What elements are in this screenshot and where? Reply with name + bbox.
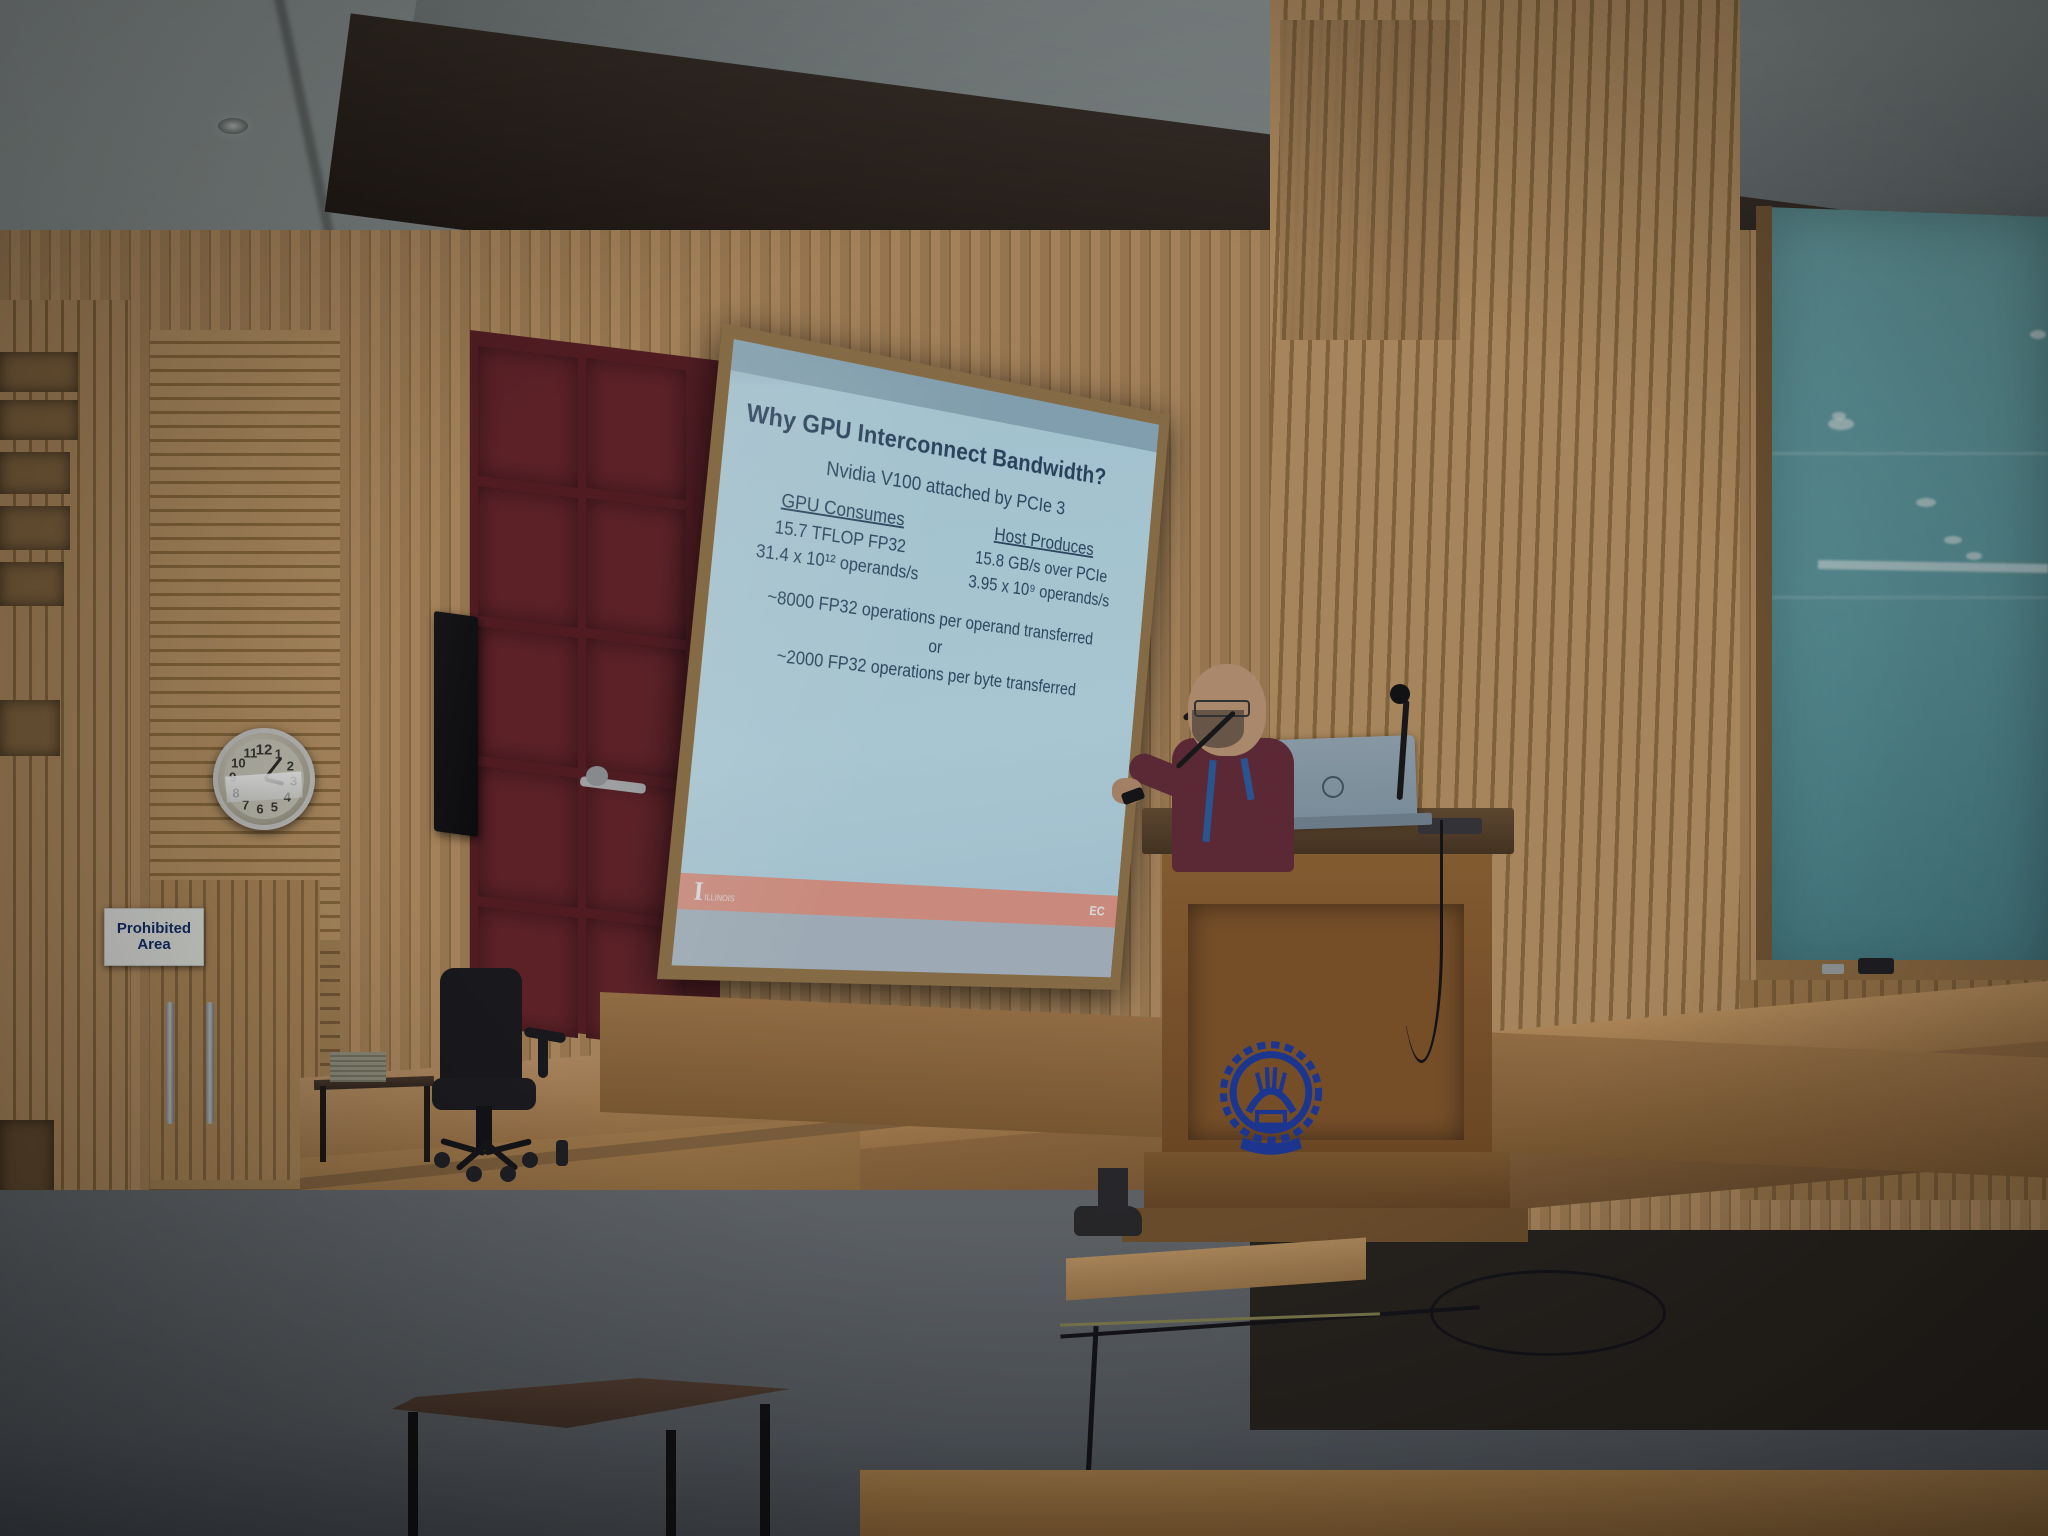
wall-speaker [434,611,478,837]
wall-slats-vertical [150,330,340,940]
slide-footer-right-text: EC [1089,903,1106,919]
mic-capsule-icon [1390,684,1410,704]
clock-number: 6 [256,802,263,817]
lectern-plinth [1122,1208,1528,1242]
block-i-logo-text: I [692,877,703,906]
red-panel-tile [586,498,686,640]
red-panel-tile [478,626,578,768]
light-reflection [1916,498,1936,507]
foreground-table-leg [760,1404,770,1536]
shelf-box [0,700,60,756]
foreground-table-leg [666,1430,676,1536]
wall-slats-right-upper [1280,20,1460,340]
window-object [1858,958,1894,974]
dell-logo-icon [1322,776,1344,798]
lecture-hall-photo: Prohibited Area 12 1 2 3 4 5 6 7 8 9 10 … [0,0,2048,1536]
chair-caster [522,1152,538,1168]
chair-caster [466,1166,482,1182]
door-handle[interactable] [166,1002,174,1124]
red-panel-tile [478,486,578,628]
shelf-box [0,1120,54,1200]
illinois-wordmark: ILLINOIS [704,893,735,903]
red-panel-tile [478,766,578,908]
wall-clock: 12 1 2 3 4 5 6 7 8 9 10 11 [213,728,315,830]
window-object [1822,964,1844,974]
camera-icon [586,766,608,786]
clock-number: 5 [271,800,278,815]
projected-slide: Why GPU Interconnect Bandwidth? Nvidia V… [672,339,1159,977]
light-reflection [1966,552,1982,560]
office-chair-armrest [538,1034,548,1078]
stacked-papers [330,1052,386,1082]
shelf-box [0,400,78,440]
window-frame [1756,206,1772,992]
slide-content: Why GPU Interconnect Bandwidth? Nvidia V… [681,370,1157,896]
light-reflection [1828,418,1854,430]
ceiling-downlight-icon [218,118,248,134]
clock-glass-glare [225,772,303,803]
sign-line-2: Area [137,937,170,953]
clock-number: 12 [256,742,273,759]
shelf-box [0,562,64,606]
slide-column-host: Host Produces 15.8 GB/s over PCIe 3.95 x… [967,518,1114,615]
chair-caster [556,1140,568,1166]
light-reflection [2030,330,2046,339]
illinois-logo: IILLINOIS [692,877,736,909]
foreground-bench [860,1470,2048,1536]
table-leg [320,1086,326,1162]
red-panel-tile [478,346,578,488]
light-reflection [1944,536,1962,544]
chair-caster [500,1166,516,1182]
clock-face: 12 1 2 3 4 5 6 7 8 9 10 11 [224,739,304,819]
sign-line-1: Prohibited [117,921,191,937]
floor-cable-loop [1430,1270,1666,1356]
red-panel-tile [586,358,686,500]
foreground-table-leg [408,1412,418,1536]
iit-bombay-emblem-icon [1196,1028,1346,1168]
glass-seam [1772,596,2048,599]
clock-number: 11 [244,745,258,760]
screen-frame: Why GPU Interconnect Bandwidth? Nvidia V… [657,323,1170,990]
power-cable [1400,820,1443,1063]
glasses-icon [1194,700,1250,717]
prohibited-area-sign: Prohibited Area [104,908,204,966]
slide-column-gpu: GPU Consumes 15.7 TFLOP FP32 31.4 x 10¹²… [755,484,925,589]
shelf-box [0,506,70,550]
shelf-box [0,352,78,392]
table-leg [424,1086,430,1162]
office-chair-back [440,968,522,1090]
glass-seam [1772,452,2048,455]
door-handle[interactable] [206,1002,214,1124]
presenter-leg [1098,1168,1128,1214]
chair-caster [434,1152,450,1168]
red-panel-tile [586,638,686,780]
shelf-box [0,452,70,494]
